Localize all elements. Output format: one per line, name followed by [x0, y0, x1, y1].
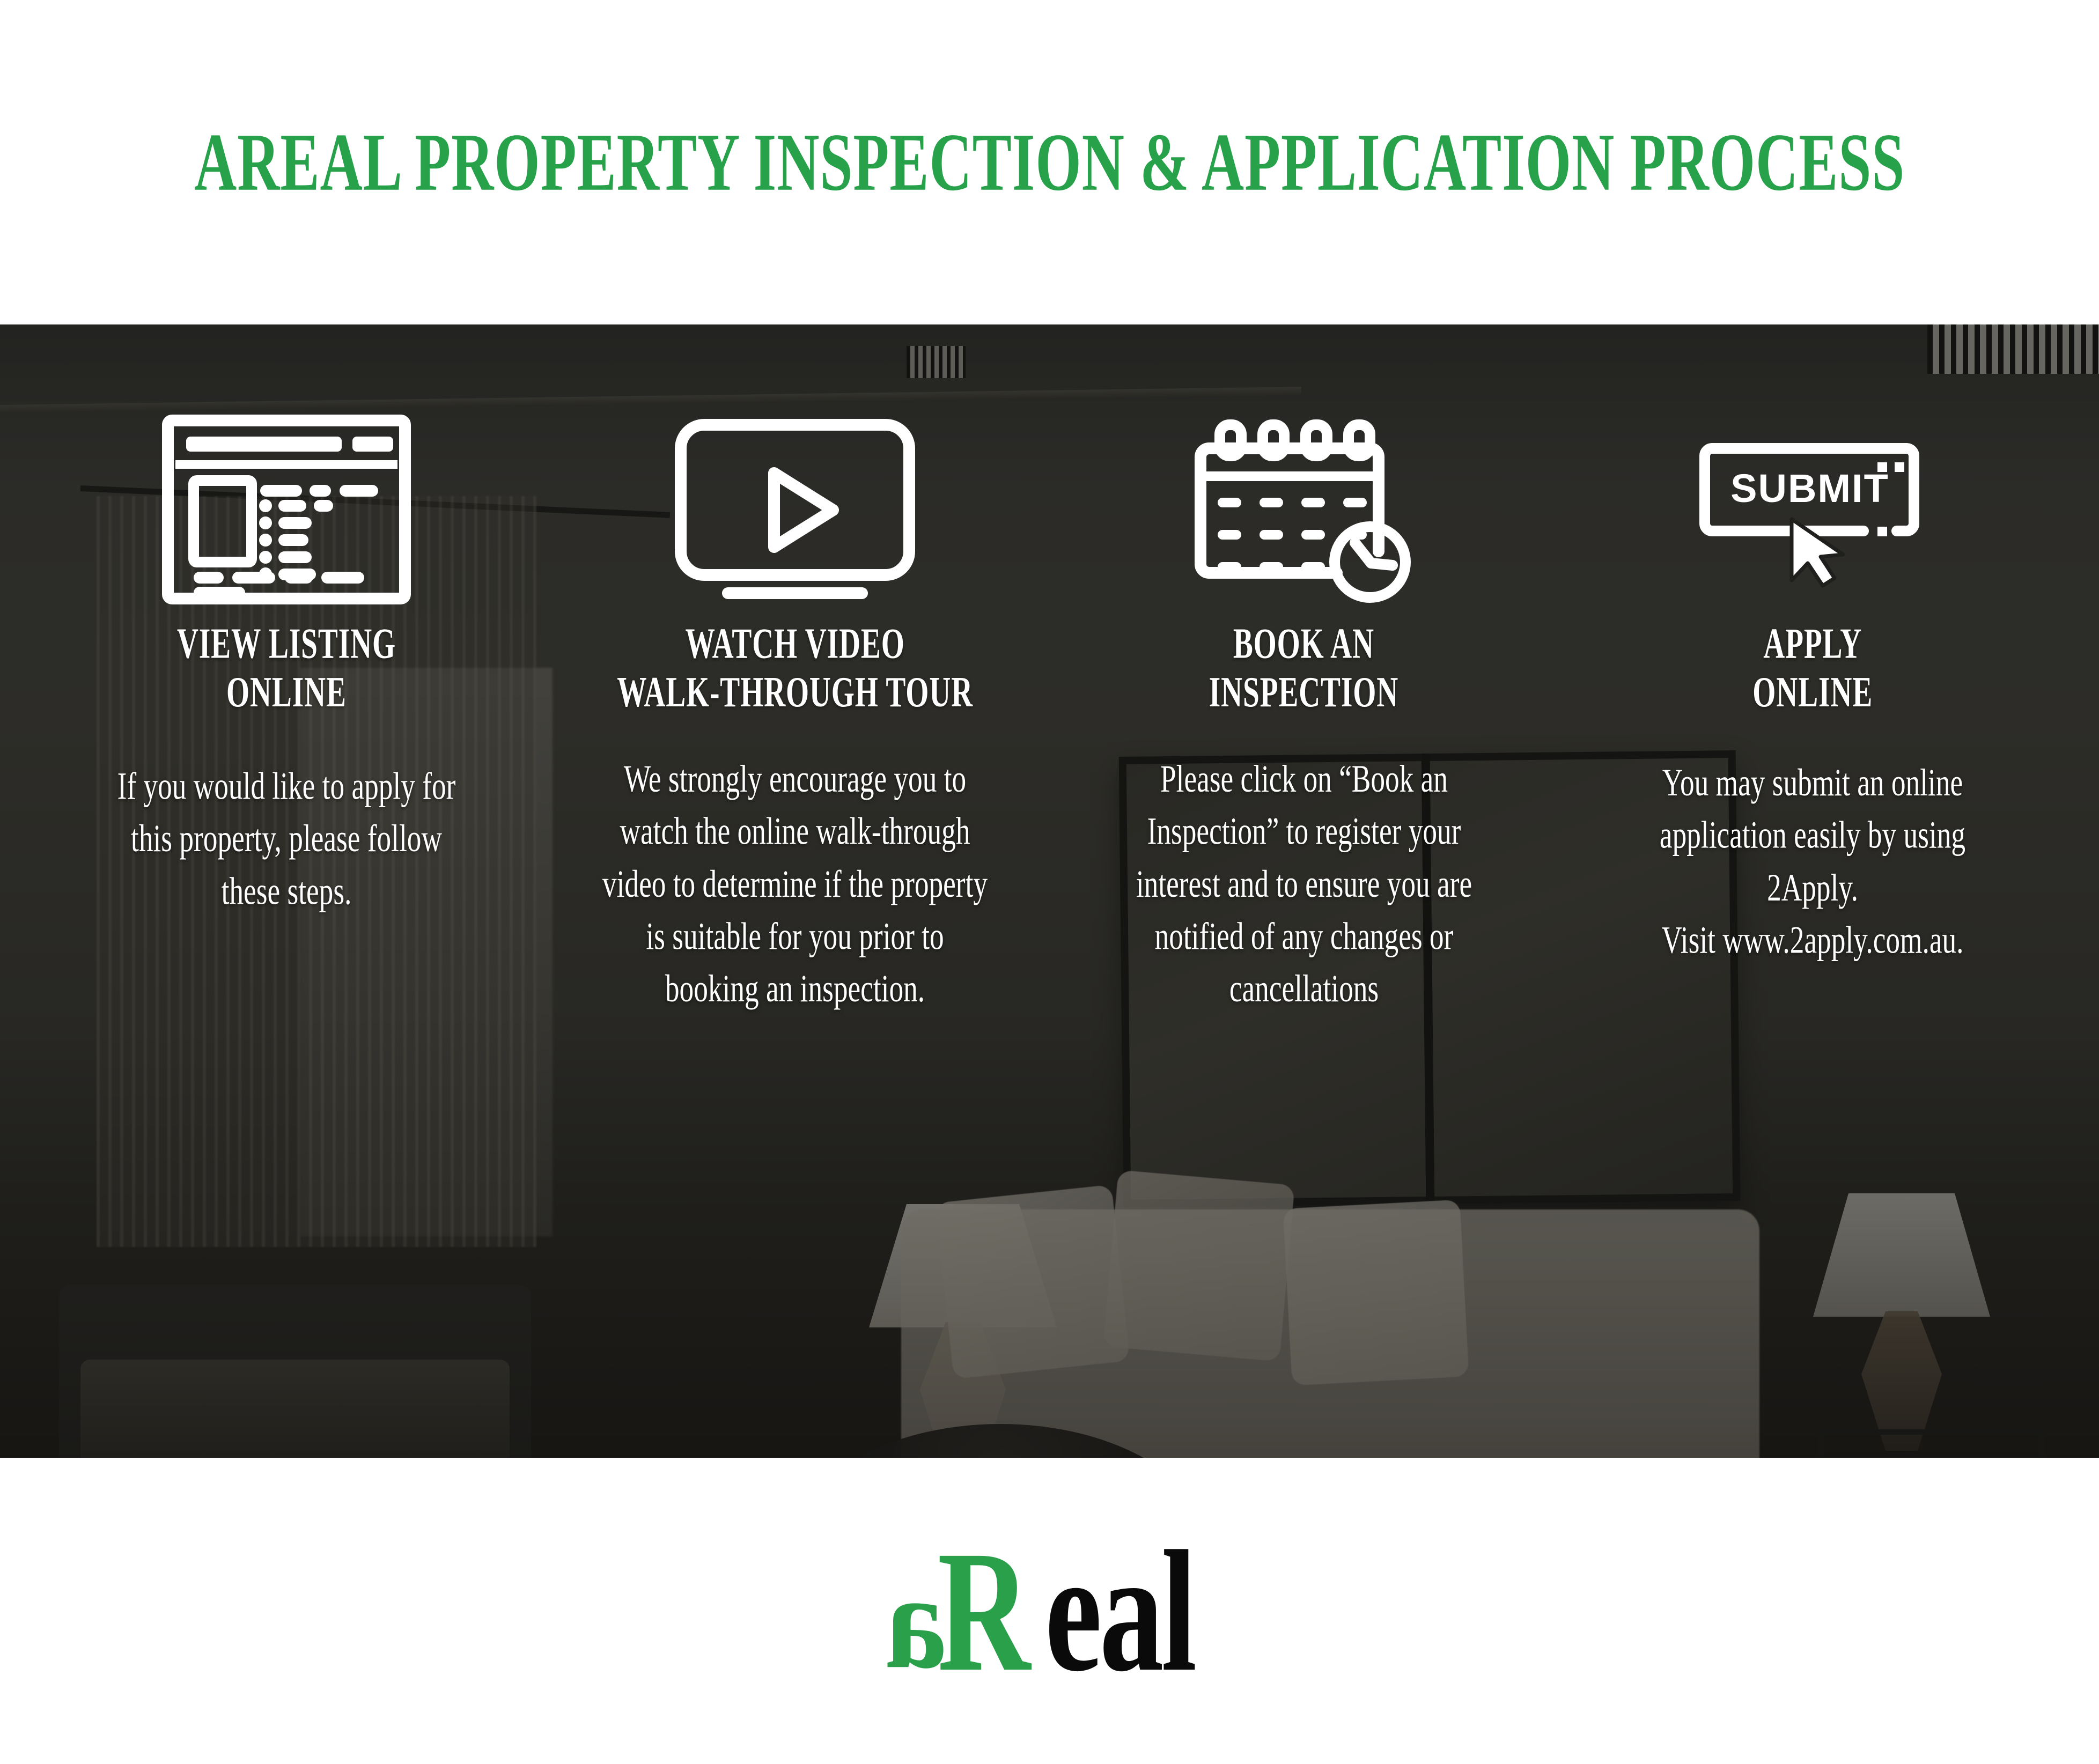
step-book-an-inspection: BOOK AN INSPECTION Please click on “Book… — [1050, 324, 1558, 1458]
logo-letters-eal: eal — [1045, 1524, 1195, 1698]
hero-photo-band: VIEW LISTING ONLINE If you would like to… — [0, 324, 2099, 1458]
step-apply-online: SUBMIT APPLY ONLINE You may submit an on… — [1558, 324, 2067, 1458]
step-body: You may submit an online application eas… — [1619, 757, 2006, 966]
step-heading: APPLY ONLINE — [1752, 620, 1873, 717]
step-heading: WATCH VIDEO WALK-THROUGH TOUR — [617, 620, 973, 717]
step-body: If you would like to apply for this prop… — [111, 761, 462, 918]
step-body: We strongly encourage you to watch the o… — [597, 753, 994, 1015]
browser-listing-icon — [160, 402, 413, 617]
page-title: AREAL PROPERTY INSPECTION & APPLICATION … — [194, 121, 1905, 203]
video-play-screen-icon — [669, 402, 921, 617]
step-view-listing-online: VIEW LISTING ONLINE If you would like to… — [32, 324, 541, 1458]
steps-row: VIEW LISTING ONLINE If you would like to… — [0, 324, 2099, 1458]
step-heading: BOOK AN INSPECTION — [1209, 620, 1398, 717]
calendar-clock-icon — [1178, 402, 1430, 617]
submit-label: SUBMIT — [1730, 466, 1889, 511]
areal-logo: a R eal — [886, 1524, 1213, 1698]
step-body: Please click on “Book an Inspection” to … — [1106, 753, 1503, 1015]
footer-band: a R eal — [0, 1458, 2099, 1764]
step-heading: VIEW LISTING ONLINE — [177, 620, 396, 717]
logo-letter-R: R — [938, 1524, 1030, 1698]
step-watch-video-walkthrough: WATCH VIDEO WALK-THROUGH TOUR We strongl… — [541, 324, 1049, 1458]
header-band: AREAL PROPERTY INSPECTION & APPLICATION … — [0, 0, 2099, 324]
submit-button-cursor-icon: SUBMIT — [1686, 402, 1939, 617]
